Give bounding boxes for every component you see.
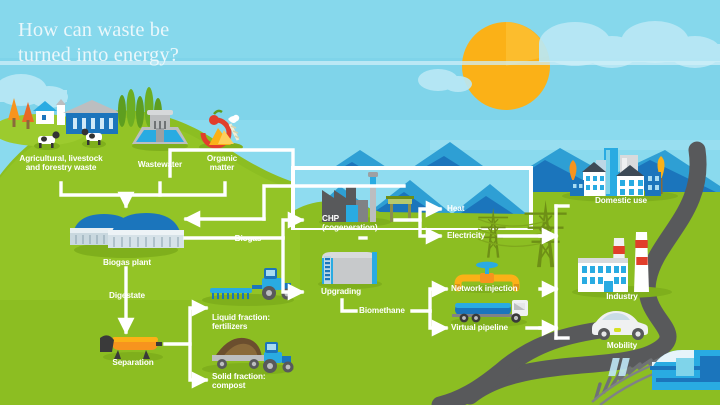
connector-biomethane-to-virtual [430, 311, 446, 328]
label-virtual-pipeline: Virtual pipeline [451, 323, 547, 332]
label-biogas: Biogas [218, 234, 278, 243]
connector-inputs-bracket [61, 183, 225, 195]
connector-separation-out-2 [190, 344, 206, 380]
label-heat: Heat [447, 204, 497, 213]
label-organic-matter: Organic matter [194, 154, 250, 172]
infographic-canvas: How can waste be turned into energy? Agr… [0, 0, 720, 405]
label-biogas-plant: Biogas plant [82, 258, 172, 267]
label-upgrading: Upgrading [321, 287, 397, 296]
connector-biogas-to-chp [283, 220, 302, 238]
label-digestate: Digestate [82, 291, 172, 300]
label-electricity: Electricity [447, 231, 507, 240]
label-liquid-fraction: Liquid fraction: fertilizers [212, 313, 302, 331]
label-solid-fraction: Solid fraction: compost [212, 372, 302, 390]
label-domestic-use: Domestic use [578, 196, 664, 205]
connector-separation-out [165, 308, 206, 344]
label-wastewater: Wastewater [120, 160, 200, 169]
page-title: How can waste be turned into energy? [18, 18, 179, 68]
label-mobility: Mobility [586, 341, 658, 350]
label-industry: Industry [586, 292, 658, 301]
label-network-injection: Network injection [451, 284, 555, 293]
label-chp: CHP (cogeneration) [322, 214, 402, 232]
label-separation: Separation [88, 358, 178, 367]
connector-biomethane-to-network [430, 289, 446, 311]
connector-biogas-to-upgrading [283, 238, 302, 292]
label-biomethane: Biomethane [359, 306, 429, 315]
connector-chp-out-2 [420, 220, 440, 236]
connector-upgrading-to-biomethane [342, 300, 356, 311]
label-agricultural-waste: Agricultural, livestock and forestry was… [4, 154, 118, 172]
